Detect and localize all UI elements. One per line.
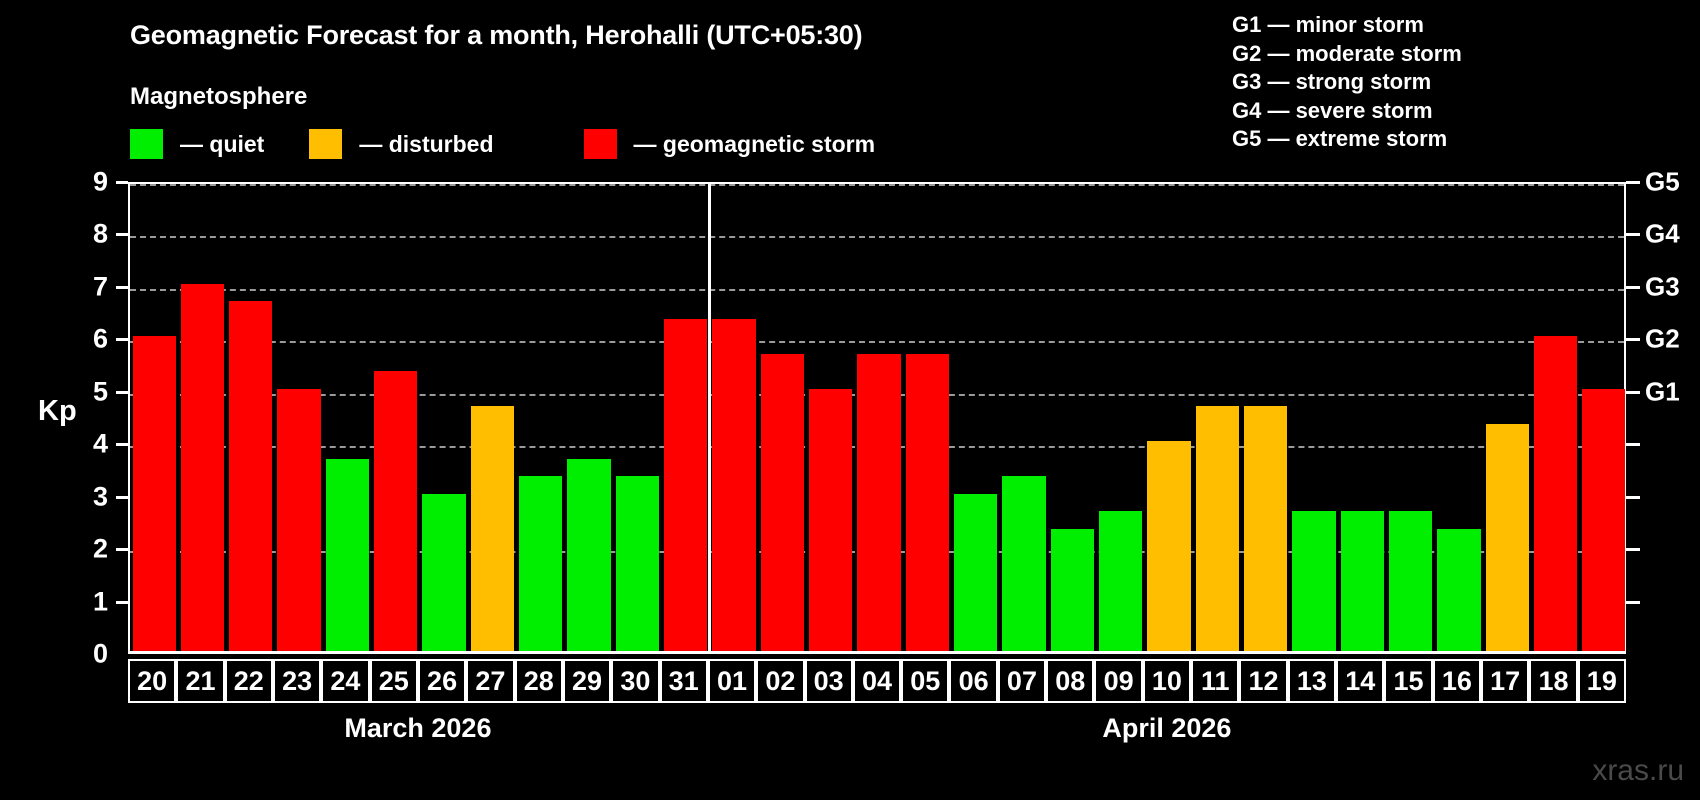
bar-day-08[interactable] xyxy=(1051,529,1094,651)
day-label-14[interactable]: 14 xyxy=(1336,659,1384,703)
g-tick-label-G1: G1 xyxy=(1645,376,1680,407)
month-label-april: April 2026 xyxy=(708,713,1626,744)
g-axis-minor-tick-2 xyxy=(1626,548,1640,551)
bar-day-28[interactable] xyxy=(519,476,562,651)
bar-day-29[interactable] xyxy=(567,459,610,651)
gscale-legend: G1 — minor stormG2 — moderate stormG3 — … xyxy=(1232,11,1462,154)
bar-day-10[interactable] xyxy=(1147,441,1190,651)
day-label-08[interactable]: 08 xyxy=(1046,659,1094,703)
bar-day-14[interactable] xyxy=(1341,511,1384,651)
y-tick-label-2: 2 xyxy=(68,534,108,565)
gscale-legend-line-4: G4 — severe storm xyxy=(1232,97,1462,126)
y-tick-mark-1 xyxy=(116,601,128,604)
y-tick-label-0: 0 xyxy=(68,639,108,670)
day-label-29[interactable]: 29 xyxy=(563,659,611,703)
day-label-19[interactable]: 19 xyxy=(1578,659,1626,703)
y-tick-mark-4 xyxy=(116,443,128,446)
day-label-03[interactable]: 03 xyxy=(805,659,853,703)
y-tick-label-9: 9 xyxy=(68,167,108,198)
bar-day-31[interactable] xyxy=(664,319,707,651)
day-label-28[interactable]: 28 xyxy=(515,659,563,703)
legend-label-quiet: — quiet xyxy=(180,131,264,158)
y-tick-mark-8 xyxy=(116,233,128,236)
day-label-07[interactable]: 07 xyxy=(998,659,1046,703)
bar-day-01[interactable] xyxy=(712,319,755,651)
bar-day-24[interactable] xyxy=(326,459,369,651)
day-label-25[interactable]: 25 xyxy=(370,659,418,703)
y-tick-mark-9 xyxy=(116,181,128,184)
day-label-06[interactable]: 06 xyxy=(949,659,997,703)
plot-area xyxy=(128,182,1626,654)
bar-day-04[interactable] xyxy=(857,354,900,651)
bar-day-30[interactable] xyxy=(616,476,659,651)
legend-entry-storm: — geomagnetic storm xyxy=(584,129,876,159)
bar-day-15[interactable] xyxy=(1389,511,1432,651)
bar-day-22[interactable] xyxy=(229,301,272,651)
g-tick-mark-G2 xyxy=(1626,338,1640,341)
bar-day-13[interactable] xyxy=(1292,511,1335,651)
y-tick-label-7: 7 xyxy=(68,271,108,302)
legend-swatch-quiet xyxy=(130,129,163,159)
gscale-legend-line-2: G2 — moderate storm xyxy=(1232,40,1462,69)
day-label-09[interactable]: 09 xyxy=(1094,659,1142,703)
watermark: xras.ru xyxy=(1592,754,1684,788)
day-label-30[interactable]: 30 xyxy=(611,659,659,703)
g-tick-mark-G3 xyxy=(1626,286,1640,289)
day-label-18[interactable]: 18 xyxy=(1529,659,1577,703)
day-label-26[interactable]: 26 xyxy=(418,659,466,703)
day-label-22[interactable]: 22 xyxy=(225,659,273,703)
bar-day-11[interactable] xyxy=(1196,406,1239,651)
day-label-10[interactable]: 10 xyxy=(1143,659,1191,703)
day-label-05[interactable]: 05 xyxy=(901,659,949,703)
gscale-legend-line-3: G3 — strong storm xyxy=(1232,68,1462,97)
bar-day-18[interactable] xyxy=(1534,336,1577,651)
bars-layer xyxy=(130,184,1624,651)
legend-swatch-disturbed xyxy=(309,129,342,159)
day-label-12[interactable]: 12 xyxy=(1239,659,1287,703)
month-label-march: March 2026 xyxy=(128,713,708,744)
bar-day-06[interactable] xyxy=(954,494,997,651)
g-tick-label-G4: G4 xyxy=(1645,219,1680,250)
bar-day-05[interactable] xyxy=(906,354,949,651)
legend-swatch-storm xyxy=(584,129,617,159)
bar-day-12[interactable] xyxy=(1244,406,1287,651)
page-title: Geomagnetic Forecast for a month, Heroha… xyxy=(130,20,862,51)
bar-day-25[interactable] xyxy=(374,371,417,651)
legend-entry-disturbed: — disturbed xyxy=(309,129,493,159)
magnetosphere-section-label: Magnetosphere xyxy=(130,83,307,111)
y-tick-label-8: 8 xyxy=(68,219,108,250)
bar-day-23[interactable] xyxy=(277,389,320,651)
day-label-01[interactable]: 01 xyxy=(708,659,756,703)
y-tick-mark-2 xyxy=(116,548,128,551)
g-tick-label-G2: G2 xyxy=(1645,324,1680,355)
legend-label-storm: — geomagnetic storm xyxy=(634,131,876,158)
day-label-04[interactable]: 04 xyxy=(853,659,901,703)
y-tick-label-4: 4 xyxy=(68,429,108,460)
g-tick-label-G3: G3 xyxy=(1645,271,1680,302)
gscale-legend-line-5: G5 — extreme storm xyxy=(1232,125,1462,154)
bar-day-17[interactable] xyxy=(1486,424,1529,651)
gscale-legend-line-1: G1 — minor storm xyxy=(1232,11,1462,40)
bar-day-16[interactable] xyxy=(1437,529,1480,651)
bar-day-26[interactable] xyxy=(422,494,465,651)
day-label-02[interactable]: 02 xyxy=(756,659,804,703)
day-label-21[interactable]: 21 xyxy=(176,659,224,703)
day-label-11[interactable]: 11 xyxy=(1191,659,1239,703)
bar-day-27[interactable] xyxy=(471,406,514,651)
g-axis-minor-tick-1 xyxy=(1626,601,1640,604)
bar-day-19[interactable] xyxy=(1582,389,1625,651)
y-tick-mark-6 xyxy=(116,338,128,341)
day-label-16[interactable]: 16 xyxy=(1433,659,1481,703)
bar-day-20[interactable] xyxy=(133,336,176,651)
day-label-27[interactable]: 27 xyxy=(466,659,514,703)
day-label-24[interactable]: 24 xyxy=(321,659,369,703)
g-tick-mark-G1 xyxy=(1626,391,1640,394)
g-tick-mark-G4 xyxy=(1626,233,1640,236)
g-tick-label-G5: G5 xyxy=(1645,167,1680,198)
y-tick-label-5: 5 xyxy=(68,376,108,407)
day-label-20[interactable]: 20 xyxy=(128,659,176,703)
y-tick-label-6: 6 xyxy=(68,324,108,355)
bar-day-21[interactable] xyxy=(181,284,224,651)
color-legend: — quiet— disturbed— geomagnetic storm xyxy=(130,129,875,159)
y-tick-label-3: 3 xyxy=(68,481,108,512)
bar-day-07[interactable] xyxy=(1002,476,1045,651)
day-label-23[interactable]: 23 xyxy=(273,659,321,703)
y-tick-mark-3 xyxy=(116,496,128,499)
g-tick-mark-G5 xyxy=(1626,181,1640,184)
legend-label-disturbed: — disturbed xyxy=(359,131,493,158)
legend-entry-quiet: — quiet xyxy=(130,129,264,159)
g-axis-minor-tick-4 xyxy=(1626,443,1640,446)
day-label-13[interactable]: 13 xyxy=(1288,659,1336,703)
bar-day-02[interactable] xyxy=(761,354,804,651)
day-label-31[interactable]: 31 xyxy=(660,659,708,703)
day-label-15[interactable]: 15 xyxy=(1384,659,1432,703)
y-tick-mark-5 xyxy=(116,391,128,394)
y-tick-mark-7 xyxy=(116,286,128,289)
bar-day-03[interactable] xyxy=(809,389,852,651)
g-axis-minor-tick-3 xyxy=(1626,496,1640,499)
y-tick-label-1: 1 xyxy=(68,586,108,617)
day-label-17[interactable]: 17 xyxy=(1481,659,1529,703)
bar-day-09[interactable] xyxy=(1099,511,1142,651)
